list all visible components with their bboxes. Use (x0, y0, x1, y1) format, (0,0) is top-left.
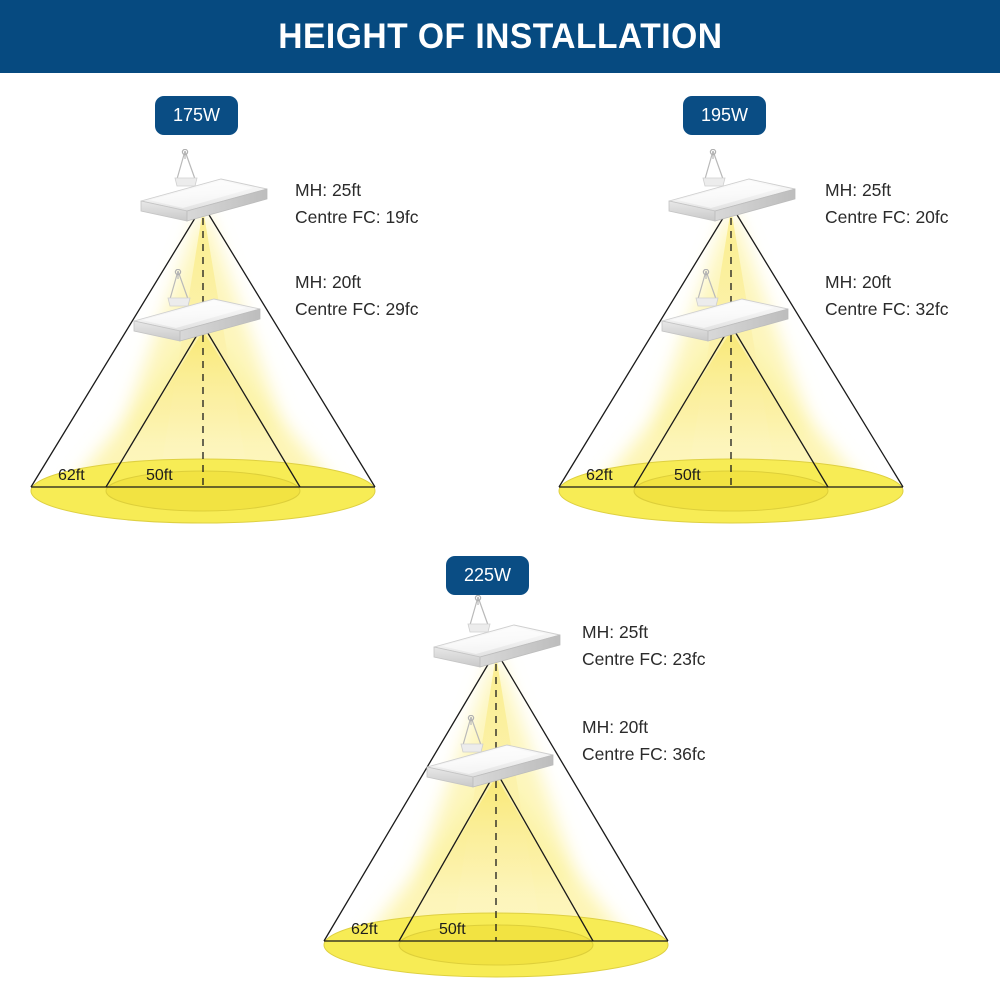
callout-lower-225w: MH: 20ft Centre FC: 36fc (582, 714, 706, 768)
mh-label-lower: MH: 20ft (582, 714, 706, 741)
callout-lower-195w: MH: 20ft Centre FC: 32fc (825, 269, 949, 323)
diagram-panel-195w: 195W 62ft 50ft MH: 25ft Centre FC: 20fc … (500, 73, 1000, 543)
callout-upper-195w: MH: 25ft Centre FC: 20fc (825, 177, 949, 231)
inner-coverage-ellipse (634, 471, 828, 511)
outer-diameter-label-175w: 62ft (58, 468, 85, 484)
luminaire-upper (669, 149, 795, 221)
mh-label-upper: MH: 25ft (582, 619, 706, 646)
callout-upper-175w: MH: 25ft Centre FC: 19fc (295, 177, 419, 231)
inner-coverage-ellipse (106, 471, 300, 511)
diagram-panel-175w: 175W 62ft 50ft MH (0, 73, 500, 543)
fc-label-lower: Centre FC: 32fc (825, 296, 949, 323)
mh-label-upper: MH: 25ft (295, 177, 419, 204)
page-header: HEIGHT OF INSTALLATION (0, 0, 1000, 73)
outer-diameter-label-195w: 62ft (586, 468, 613, 484)
outer-diameter-label-225w: 62ft (351, 922, 378, 938)
diagram-panel-225w: 225W 62ft 50ft MH: 25ft Centre FC: 23fc … (250, 543, 750, 992)
fc-label-lower: Centre FC: 36fc (582, 741, 706, 768)
fc-label-upper: Centre FC: 20fc (825, 204, 949, 231)
callout-lower-175w: MH: 20ft Centre FC: 29fc (295, 269, 419, 323)
inner-diameter-label-195w: 50ft (674, 468, 701, 484)
mh-label-upper: MH: 25ft (825, 177, 949, 204)
callout-upper-225w: MH: 25ft Centre FC: 23fc (582, 619, 706, 673)
mh-label-lower: MH: 20ft (295, 269, 419, 296)
luminaire-upper (434, 595, 560, 667)
fc-label-upper: Centre FC: 19fc (295, 204, 419, 231)
page-title: HEIGHT OF INSTALLATION (278, 19, 722, 54)
inner-diameter-label-175w: 50ft (146, 468, 173, 484)
mh-label-lower: MH: 20ft (825, 269, 949, 296)
luminaire-upper (141, 149, 267, 221)
fc-label-lower: Centre FC: 29fc (295, 296, 419, 323)
inner-diameter-label-225w: 50ft (439, 922, 466, 938)
fc-label-upper: Centre FC: 23fc (582, 646, 706, 673)
